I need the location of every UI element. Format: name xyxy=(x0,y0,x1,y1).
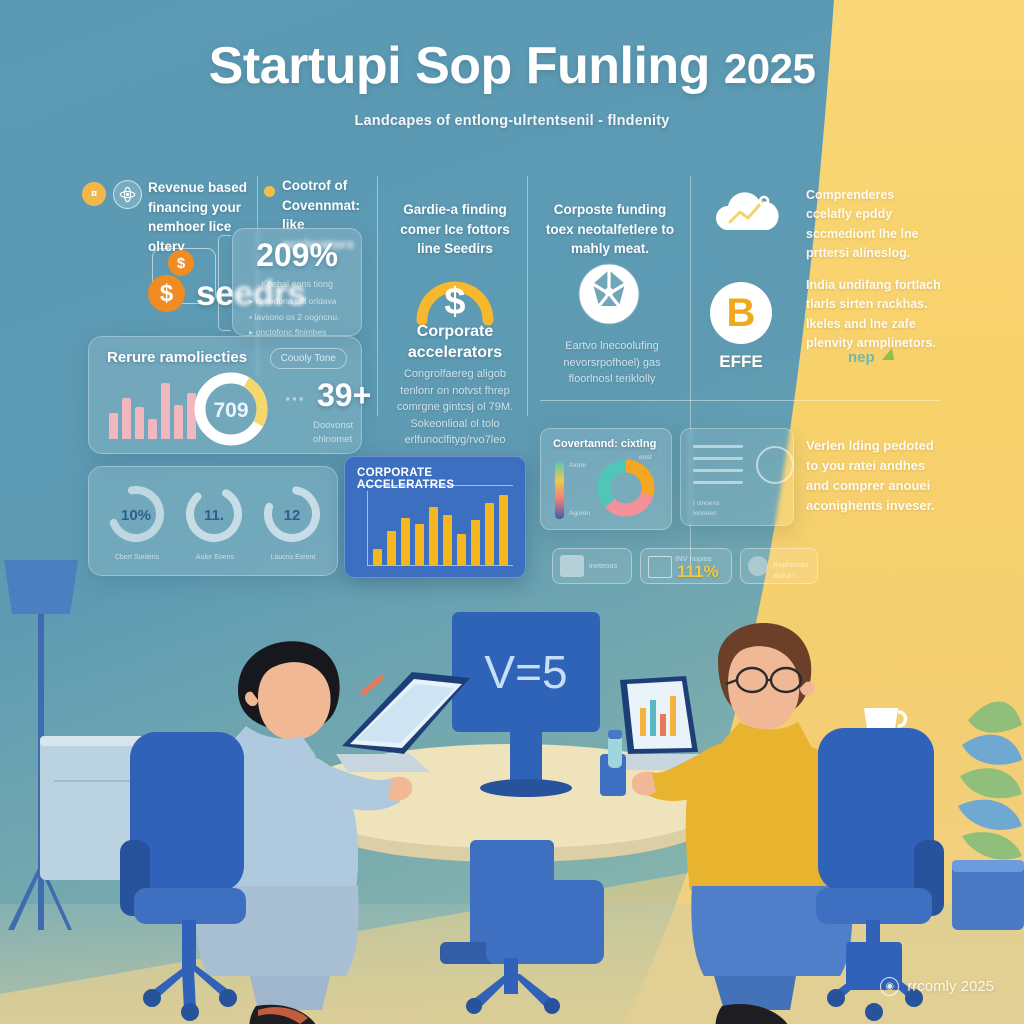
col3-heading: Gardie-a finding comer Ice fottors line … xyxy=(392,200,518,259)
revenue-side-stat: 39+ xyxy=(317,377,371,414)
plant xyxy=(952,701,1024,930)
legend-bottom-label: Agoren xyxy=(569,509,590,519)
stat-bullets: ▸ clmedona tofl orldava ▪ lavsono ox 2 o… xyxy=(249,294,339,341)
govern-card: Covertannd: cixtlng Atone Agoren eost xyxy=(540,428,672,530)
corporate-accel-title: CORPORATE ACCELERATRES xyxy=(357,467,525,491)
legend-top-label: Atone xyxy=(569,461,586,471)
coin-badge-icon: $ xyxy=(168,250,194,276)
bar xyxy=(148,419,157,439)
ellipsis-dots: ··· xyxy=(285,389,305,412)
svg-text:11.: 11. xyxy=(204,507,224,524)
footer-text: rrcomly 2025 xyxy=(907,978,994,995)
col4-heading: Corposte funding toex neotalfetlere to m… xyxy=(540,200,680,259)
dollar-arc-icon: $ xyxy=(412,262,498,326)
infographic-canvas: Startupi Sop Funling 2025 Landcapes of e… xyxy=(0,0,1024,1024)
chair-center xyxy=(466,880,604,1014)
stat-caption: Koehal eons tiong xyxy=(233,279,361,289)
stat-value: 209% xyxy=(233,237,361,274)
bar xyxy=(122,398,131,439)
monitor-text: V=5 xyxy=(484,646,567,698)
bitcoin-glyph: B xyxy=(727,293,756,333)
title-year: 2025 xyxy=(724,45,815,92)
col5-text-mid: India undifang fortlach tlarls sirten ra… xyxy=(806,276,942,354)
bar xyxy=(174,405,183,439)
col3-subheading: Corporate accelerators xyxy=(392,322,518,364)
svg-text:10%: 10% xyxy=(121,507,151,524)
coin-label: EFFE xyxy=(710,352,772,372)
legend-gradient-bar xyxy=(555,461,564,519)
revenue-card-badge[interactable]: Couoly Tone xyxy=(270,348,347,369)
stat-bullet: ▸ clmedona tofl orldava xyxy=(249,294,339,310)
svg-text:$: $ xyxy=(444,281,465,323)
bar xyxy=(161,383,170,439)
cloud-chart-icon xyxy=(708,186,786,242)
svg-text:709: 709 xyxy=(213,399,248,422)
gauge-1: 10% xyxy=(103,481,169,547)
nepy-logo: nep xyxy=(848,344,900,368)
divider-horizontal xyxy=(540,400,940,401)
bracket-decor xyxy=(218,235,231,331)
atom-icon-glyph xyxy=(119,186,136,203)
monitor-stand xyxy=(510,726,542,784)
bitcoin-icon: B xyxy=(710,282,772,344)
list-row xyxy=(693,445,743,448)
col3-body: Congrolfaereg aligob tenlonr on notvst f… xyxy=(388,366,522,449)
page-title: Startupi Sop Funling 2025 xyxy=(0,36,1024,96)
stat-card-209: 209% Koehal eons tiong ▸ clmedona tofl o… xyxy=(232,228,362,336)
page-subtitle: Landcapes of entlong-ulrtentsenil - flnd… xyxy=(0,113,1024,129)
gauge-3: 12 xyxy=(259,481,325,547)
chart-gridline xyxy=(357,485,513,486)
dollar-circle-icon: $ xyxy=(148,275,185,312)
list-row xyxy=(693,481,743,484)
list-row xyxy=(693,469,743,472)
revenue-card: Rerure ramoliecties Couoly Tone 709 ··· … xyxy=(88,336,362,454)
atom-icon xyxy=(113,180,142,209)
list-card: I cmoens Ionnoen xyxy=(680,428,794,526)
govern-donut xyxy=(593,455,659,521)
revenue-side-caption: Doovonst ohlnomet xyxy=(313,419,361,448)
list-circle-icon xyxy=(753,443,797,487)
revenue-donut: 709 xyxy=(189,367,273,451)
spiral-logo: ◉ xyxy=(880,977,899,996)
footer: ◉ rrcomly 2025 xyxy=(880,977,994,996)
donut-callout-label: eost xyxy=(639,453,651,463)
network-globe-icon xyxy=(573,258,645,330)
chair-left xyxy=(120,732,246,1021)
office-scene-illustration: V=5 xyxy=(0,540,1024,1024)
col4-body: Eartvo lnecoolufing nevorsrpofhoel) gas … xyxy=(548,338,676,388)
revenue-card-heading: Rerure ramoliecties xyxy=(107,349,247,366)
bar xyxy=(135,407,144,439)
dot-icon xyxy=(264,186,275,197)
stat-bullet: ▪ lavsono ox 2 oogncnu. xyxy=(249,310,339,326)
list-meta: Ionnoen xyxy=(693,509,717,519)
coin-icon: ¤ xyxy=(82,182,106,206)
gauge-2: 11. xyxy=(181,481,247,547)
list-row xyxy=(693,457,743,460)
bar xyxy=(109,413,118,439)
svg-text:nep: nep xyxy=(848,349,875,366)
list-meta: I cmoens xyxy=(693,499,719,509)
divider-col3 xyxy=(527,176,528,416)
title-main: Startupi Sop Funling xyxy=(209,37,710,95)
revenue-bar-chart xyxy=(109,377,196,439)
govern-card-heading: Covertannd: cixtlng xyxy=(553,438,656,450)
right-body-text: Verlen lding pedoted to you ratei andhes… xyxy=(806,436,946,517)
svg-text:12: 12 xyxy=(284,507,301,524)
col5-text-top: Comprenderes ccelafly epddy sccmediont l… xyxy=(806,186,940,264)
